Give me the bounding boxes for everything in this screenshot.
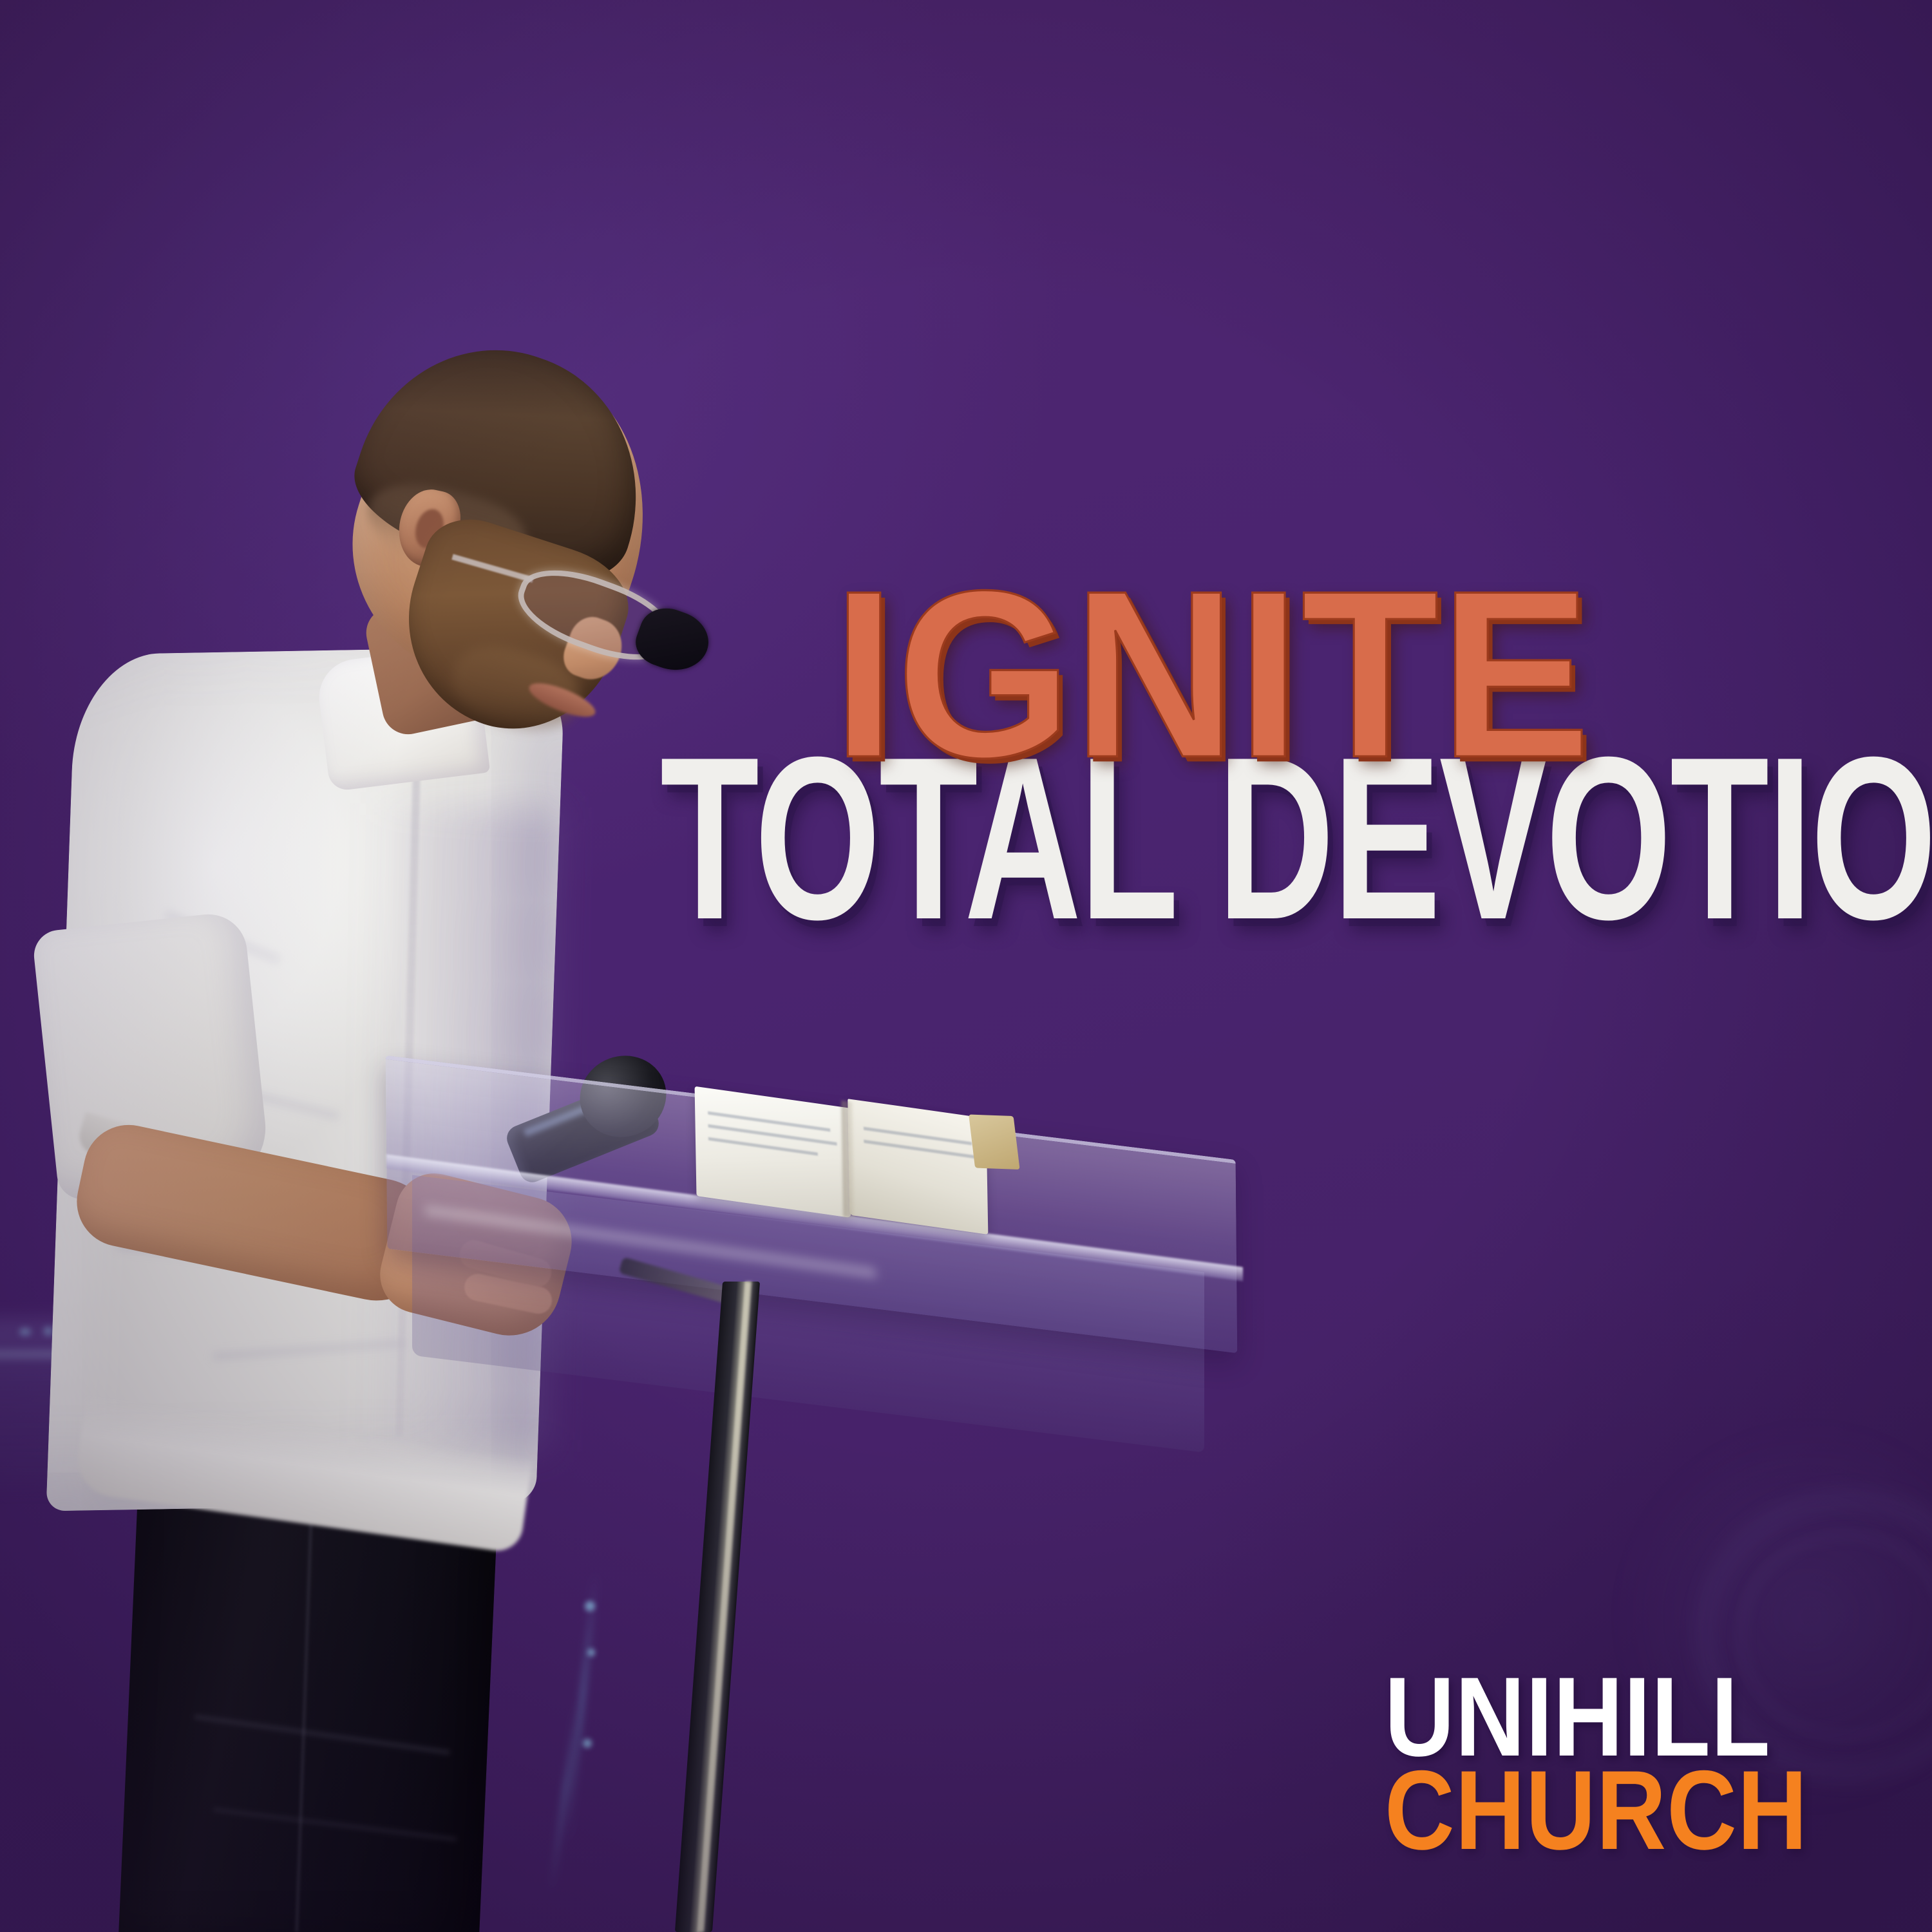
church-logo: UNIHILL CHURCH: [1385, 1672, 1848, 1859]
logo-name-bottom: CHURCH: [1385, 1763, 1783, 1859]
title-lockup: TOTAL DEVOTION IGNITE: [0, 0, 1932, 1932]
sermon-cover-artwork: TOTAL DEVOTION IGNITE UNIHILL CHURCH: [0, 0, 1932, 1932]
series-title: IGNITE: [833, 555, 1592, 793]
